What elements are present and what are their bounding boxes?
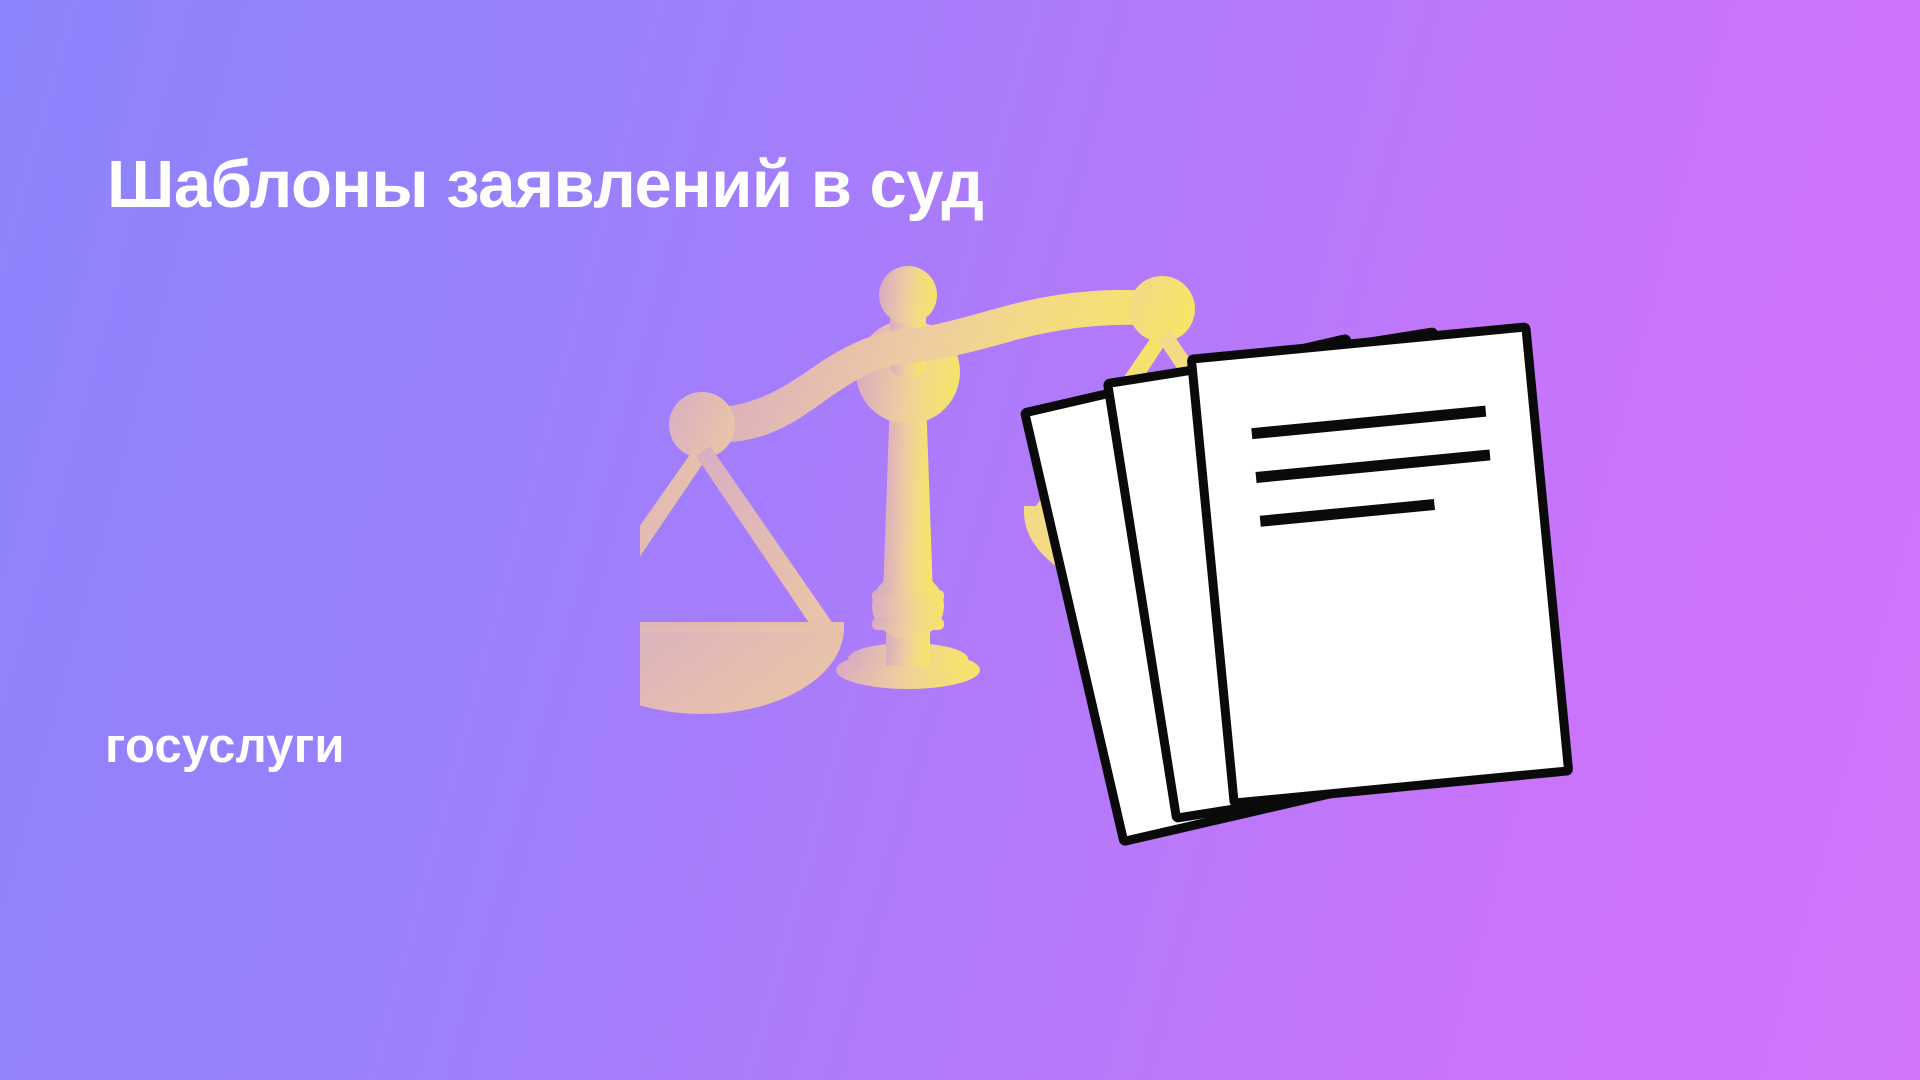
document-stack-icon xyxy=(640,250,1920,1080)
document-front xyxy=(1191,327,1568,803)
gosuslugi-logo: госуслуги xyxy=(105,722,345,771)
page-title: Шаблоны заявлений в суд xyxy=(107,149,1207,221)
promo-banner: Шаблоны заявлений в суд xyxy=(0,0,1920,1080)
banner-illustration xyxy=(640,250,1920,1080)
